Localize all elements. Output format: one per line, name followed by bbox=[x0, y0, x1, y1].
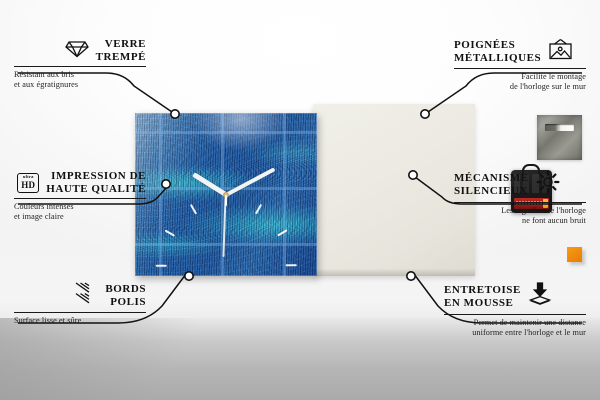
background-floor-shade bbox=[0, 318, 240, 400]
callout-divider bbox=[444, 314, 586, 315]
callout-desc-line1: Facilite le montage bbox=[521, 72, 586, 81]
dial-tick bbox=[277, 229, 288, 237]
callout-divider bbox=[454, 202, 586, 203]
callout-title-line1: BORDS bbox=[105, 283, 146, 295]
callout-bords-polis[interactable]: BORDS POLIS Surface lisse et sûre bbox=[14, 282, 146, 326]
glass-clock-face bbox=[135, 113, 317, 276]
polished-edges-icon bbox=[74, 282, 98, 309]
callout-desc-line1: Permet de maintenir une distance bbox=[474, 318, 586, 327]
callout-desc-line1: Couleurs intenses bbox=[14, 202, 74, 211]
callout-desc-line1: Résistant aux bris bbox=[14, 70, 74, 79]
callout-desc-line2: et aux égratignures bbox=[14, 80, 78, 89]
metal-hanger-plate bbox=[537, 115, 582, 160]
hour-hand bbox=[192, 172, 228, 197]
callout-desc-line2: et image claire bbox=[14, 212, 64, 221]
callout-divider bbox=[454, 68, 586, 69]
ultra-hd-icon: ultra HD bbox=[17, 173, 39, 193]
dial-tick bbox=[190, 203, 198, 214]
clock-dial bbox=[135, 113, 317, 276]
callout-desc-line2: uniforme entre l'horloge et le mur bbox=[472, 328, 586, 337]
hanger-slot bbox=[545, 124, 574, 131]
callout-title-line1: ENTRETOISE bbox=[444, 284, 521, 296]
callout-divider bbox=[14, 198, 146, 199]
callout-mecanisme-silencieux[interactable]: MÉCANISME SILENCIEUX Les aiguilles de l'… bbox=[454, 170, 586, 226]
callout-desc-line1: Les aiguilles de l'horloge bbox=[501, 206, 586, 215]
dial-tick bbox=[286, 264, 297, 266]
clock-back-panel bbox=[313, 104, 475, 276]
callout-verre-trempe[interactable]: VERRE TREMPÉ Résistant aux bris et aux é… bbox=[14, 38, 146, 90]
callout-desc-line2: ne font aucun bruit bbox=[522, 216, 586, 225]
callout-title-line1: POIGNÉES bbox=[454, 39, 515, 51]
callout-title-line2: POLIS bbox=[110, 296, 146, 308]
callout-desc-line2: de l'horloge sur le mur bbox=[510, 82, 586, 91]
minute-hand bbox=[225, 167, 276, 197]
wall-hanger-icon bbox=[548, 38, 573, 65]
ultra-hd-large-text: HD bbox=[21, 181, 35, 190]
callout-impression-haute-qualite[interactable]: ultra HD IMPRESSION DE HAUTE QUALITÉ Cou… bbox=[14, 170, 146, 222]
callout-title-line2: TREMPÉ bbox=[96, 51, 146, 63]
callout-divider bbox=[14, 66, 146, 67]
callout-desc-line1: Surface lisse et sûre bbox=[14, 316, 81, 325]
foam-spacer bbox=[567, 247, 582, 262]
callout-title-line1: MÉCANISME bbox=[454, 172, 529, 184]
callout-divider bbox=[14, 312, 146, 313]
callout-title-line2: MÉTALLIQUES bbox=[454, 52, 541, 64]
dial-tick bbox=[156, 264, 167, 266]
gear-icon bbox=[536, 170, 560, 199]
infographic-stage: VERRE TREMPÉ Résistant aux bris et aux é… bbox=[0, 0, 600, 400]
dial-tick bbox=[255, 203, 263, 214]
dial-tick bbox=[164, 229, 175, 237]
callout-title-line1: VERRE bbox=[105, 38, 146, 50]
callout-title-line1: IMPRESSION DE bbox=[51, 170, 146, 182]
callout-entretoise-en-mousse[interactable]: ENTRETOISE EN MOUSSE Permet de maintenir… bbox=[444, 282, 586, 338]
callout-title-line2: EN MOUSSE bbox=[444, 297, 513, 309]
foam-spacer-arrow-icon bbox=[528, 282, 552, 311]
callout-title-line2: HAUTE QUALITÉ bbox=[46, 183, 146, 195]
diamond-icon bbox=[65, 39, 89, 63]
callout-title-line2: SILENCIEUX bbox=[454, 185, 528, 197]
callout-poignees-metalliques[interactable]: POIGNÉES MÉTALLIQUES Facilite le montage… bbox=[454, 38, 586, 92]
product-photo bbox=[135, 104, 475, 276]
